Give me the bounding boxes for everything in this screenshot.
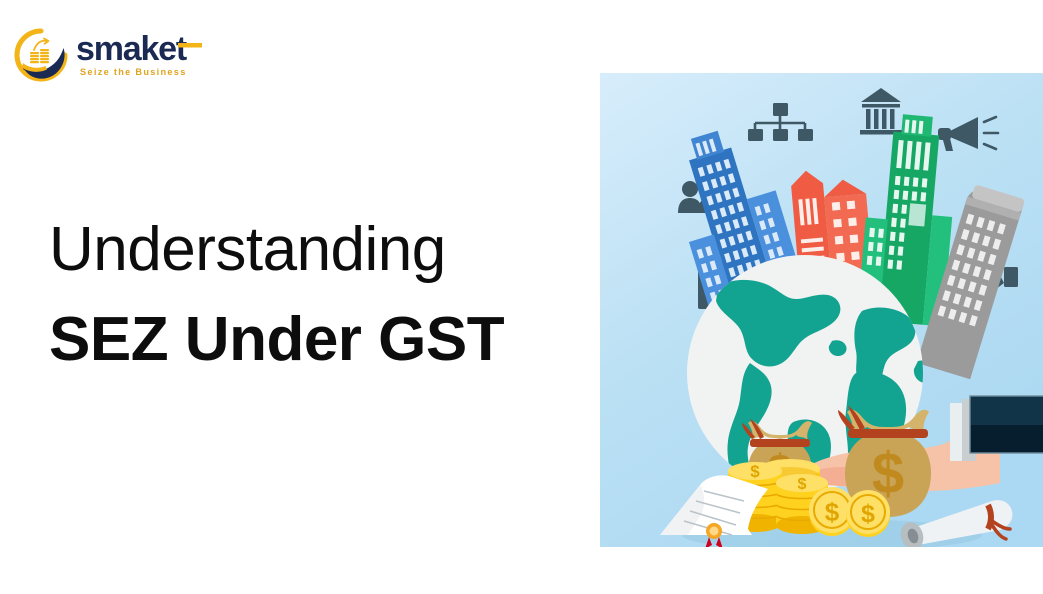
title-line-two: SEZ Under GST [49, 302, 569, 378]
svg-text:$: $ [750, 462, 760, 481]
smaket-logo[interactable]: smaket Seize the Business [14, 26, 214, 86]
svg-text:$: $ [798, 476, 807, 493]
global-business-economy-illustration: $ $ [600, 73, 1043, 547]
logo-t-crossbar-icon [178, 38, 202, 52]
hand-holding-coins-icon [14, 28, 68, 82]
title-line-one: Understanding [49, 212, 569, 288]
logo-tagline: Seize the Business [80, 67, 187, 77]
page-title: Understanding SEZ Under GST [49, 212, 569, 378]
svg-text:$: $ [825, 497, 840, 527]
svg-text:$: $ [861, 500, 875, 528]
logo-wordmark: smaket Seize the Business [76, 32, 210, 82]
logo-word-text: smaket [76, 32, 186, 66]
